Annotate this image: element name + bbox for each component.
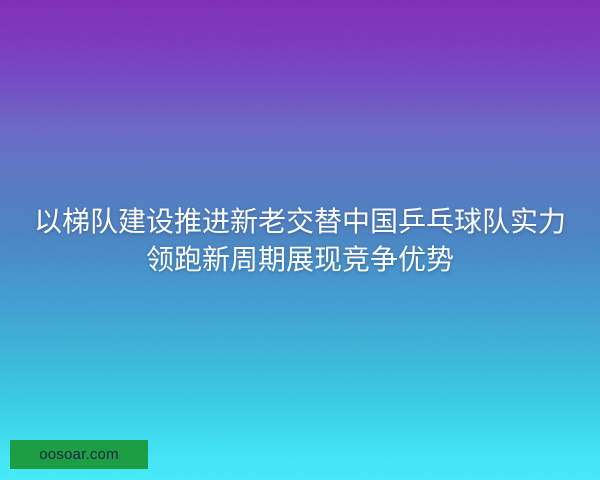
- poster-title: 以梯队建设推进新老交替中国乒乓球队实力领跑新周期展现竞争优势: [22, 203, 578, 279]
- watermark-badge: oosoar.com: [10, 440, 148, 469]
- poster-title-block: 以梯队建设推进新老交替中国乒乓球队实力领跑新周期展现竞争优势: [0, 203, 600, 279]
- poster-canvas: 以梯队建设推进新老交替中国乒乓球队实力领跑新周期展现竞争优势 oosoar.co…: [0, 0, 600, 480]
- watermark-label: oosoar.com: [39, 447, 119, 462]
